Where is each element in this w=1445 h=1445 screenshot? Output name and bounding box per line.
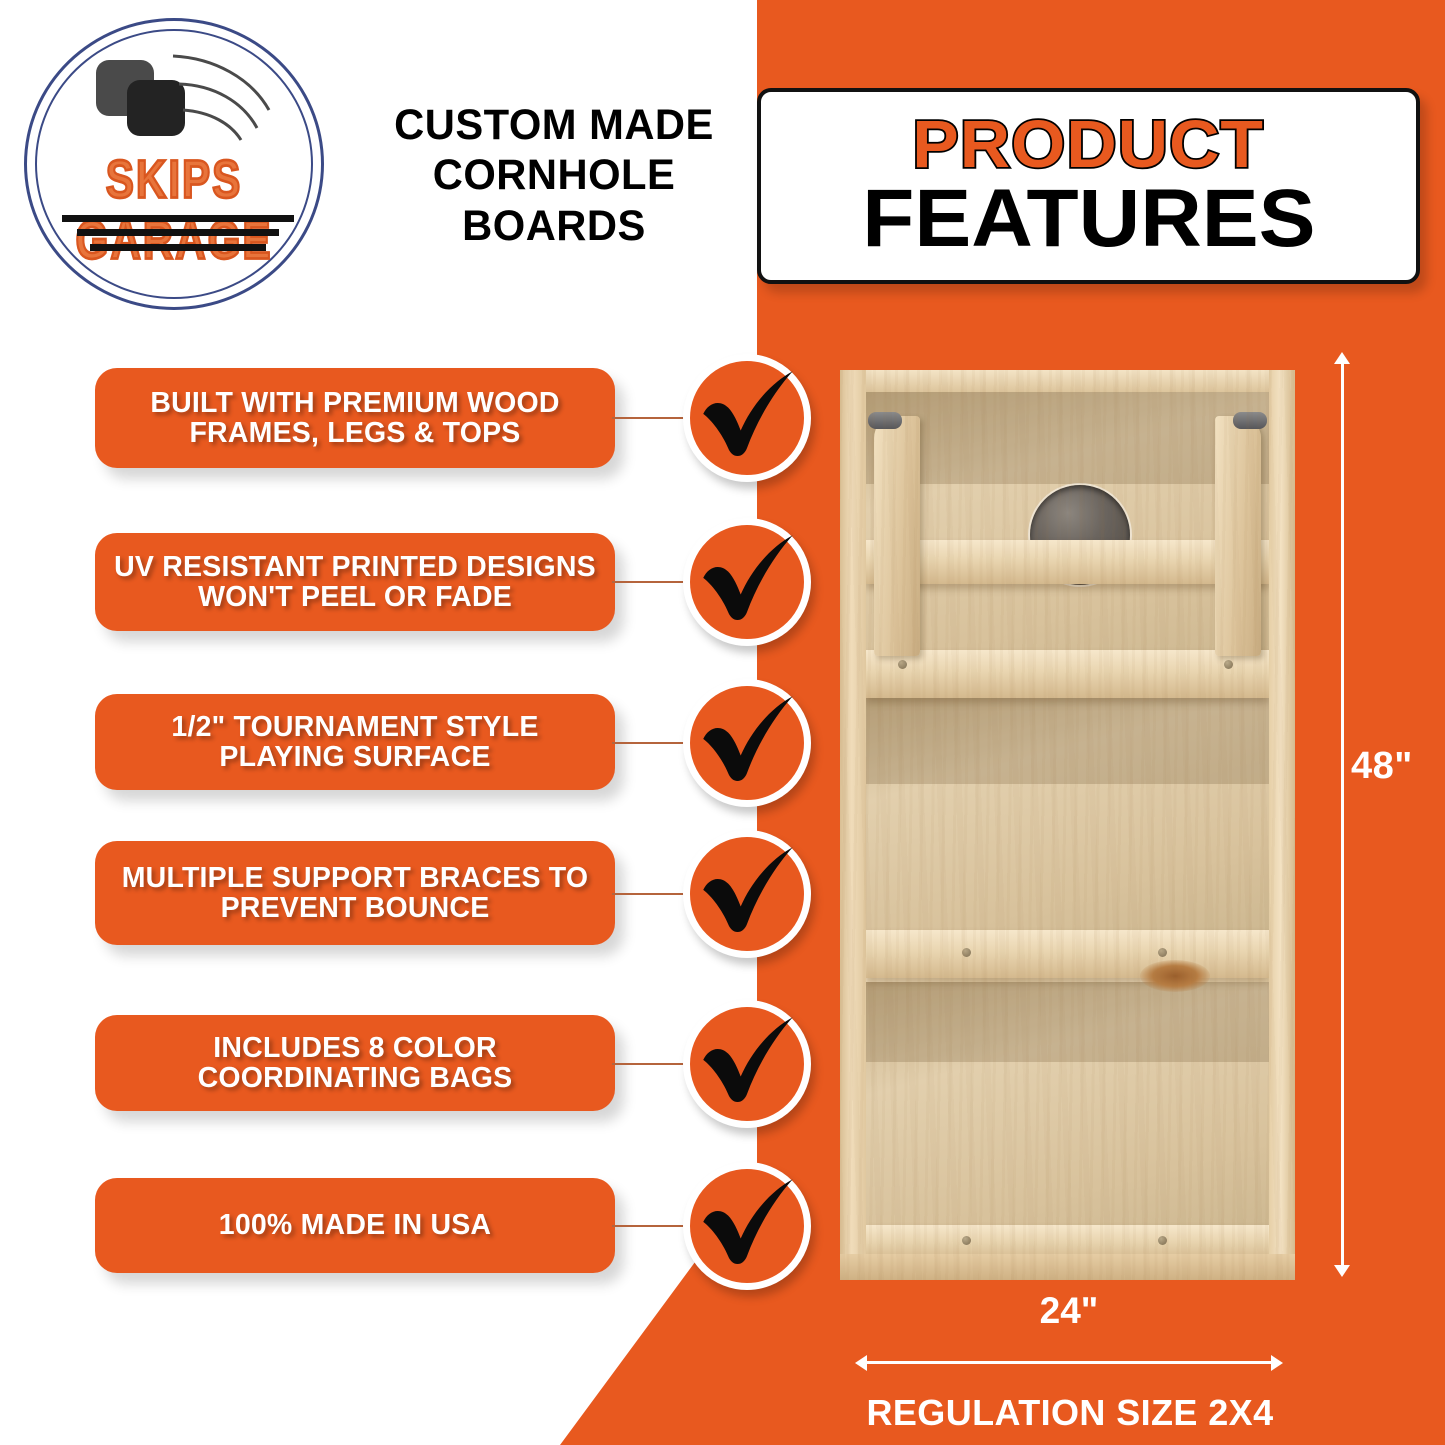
checkmark-icon	[683, 518, 811, 646]
feature-pill[interactable]: INCLUDES 8 COLOR COORDINATING BAGS	[95, 1015, 615, 1111]
feature-connector	[612, 1225, 692, 1227]
feature-connector	[612, 1063, 692, 1065]
checkmark-glyph	[697, 365, 801, 469]
feature-pill[interactable]: MULTIPLE SUPPORT BRACES TO PREVENT BOUNC…	[95, 841, 615, 945]
checkmark-icon	[683, 1000, 811, 1128]
arrow-down-icon	[1334, 1265, 1350, 1277]
width-dimension-arrow	[855, 1352, 1283, 1374]
dimension-line	[865, 1361, 1273, 1364]
motion-arcs-icon	[169, 52, 279, 142]
regulation-size-note: REGULATION SIZE 2X4	[800, 1392, 1340, 1434]
checkmark-glyph	[697, 690, 801, 794]
product-features-banner: PRODUCT FEATURES	[757, 88, 1420, 284]
height-label: 48"	[1351, 745, 1413, 788]
width-label: 24"	[855, 1290, 1283, 1332]
checkmark-icon	[683, 354, 811, 482]
height-dimension-arrow	[1331, 352, 1353, 1277]
banner-line-product: PRODUCT	[913, 113, 1265, 177]
checkmark-icon	[683, 830, 811, 958]
checkmark-glyph	[697, 1011, 801, 1115]
checkmark-glyph	[697, 529, 801, 633]
logo-bar-1	[62, 215, 294, 222]
page-title: CUSTOM MADE CORNHOLE BOARDS	[364, 100, 744, 251]
cornhole-board-image	[840, 370, 1295, 1280]
feature-connector	[612, 417, 692, 419]
feature-pill[interactable]: BUILT WITH PREMIUM WOOD FRAMES, LEGS & T…	[95, 368, 615, 468]
banner-line-features: FEATURES	[862, 179, 1315, 259]
logo-wordmark: SKIPS GARAGE	[20, 150, 327, 272]
feature-pill[interactable]: 1/2" TOURNAMENT STYLE PLAYING SURFACE	[95, 694, 615, 790]
dimension-line	[1341, 362, 1344, 1267]
checkmark-icon	[683, 1162, 811, 1290]
logo-bar-2	[77, 229, 279, 236]
brand-logo: SKIPS GARAGE	[14, 12, 334, 317]
feature-pill[interactable]: UV RESISTANT PRINTED DESIGNS WON'T PEEL …	[95, 533, 615, 631]
checkmark-icon	[683, 679, 811, 807]
feature-pill[interactable]: 100% MADE IN USA	[95, 1178, 615, 1273]
checkmark-glyph	[697, 841, 801, 945]
feature-connector	[612, 893, 692, 895]
logo-bar-3	[90, 244, 266, 251]
arrow-right-icon	[1271, 1355, 1283, 1371]
checkmark-glyph	[697, 1173, 801, 1277]
feature-connector	[612, 581, 692, 583]
feature-connector	[612, 742, 692, 744]
wood-grain-texture	[840, 370, 1295, 1280]
